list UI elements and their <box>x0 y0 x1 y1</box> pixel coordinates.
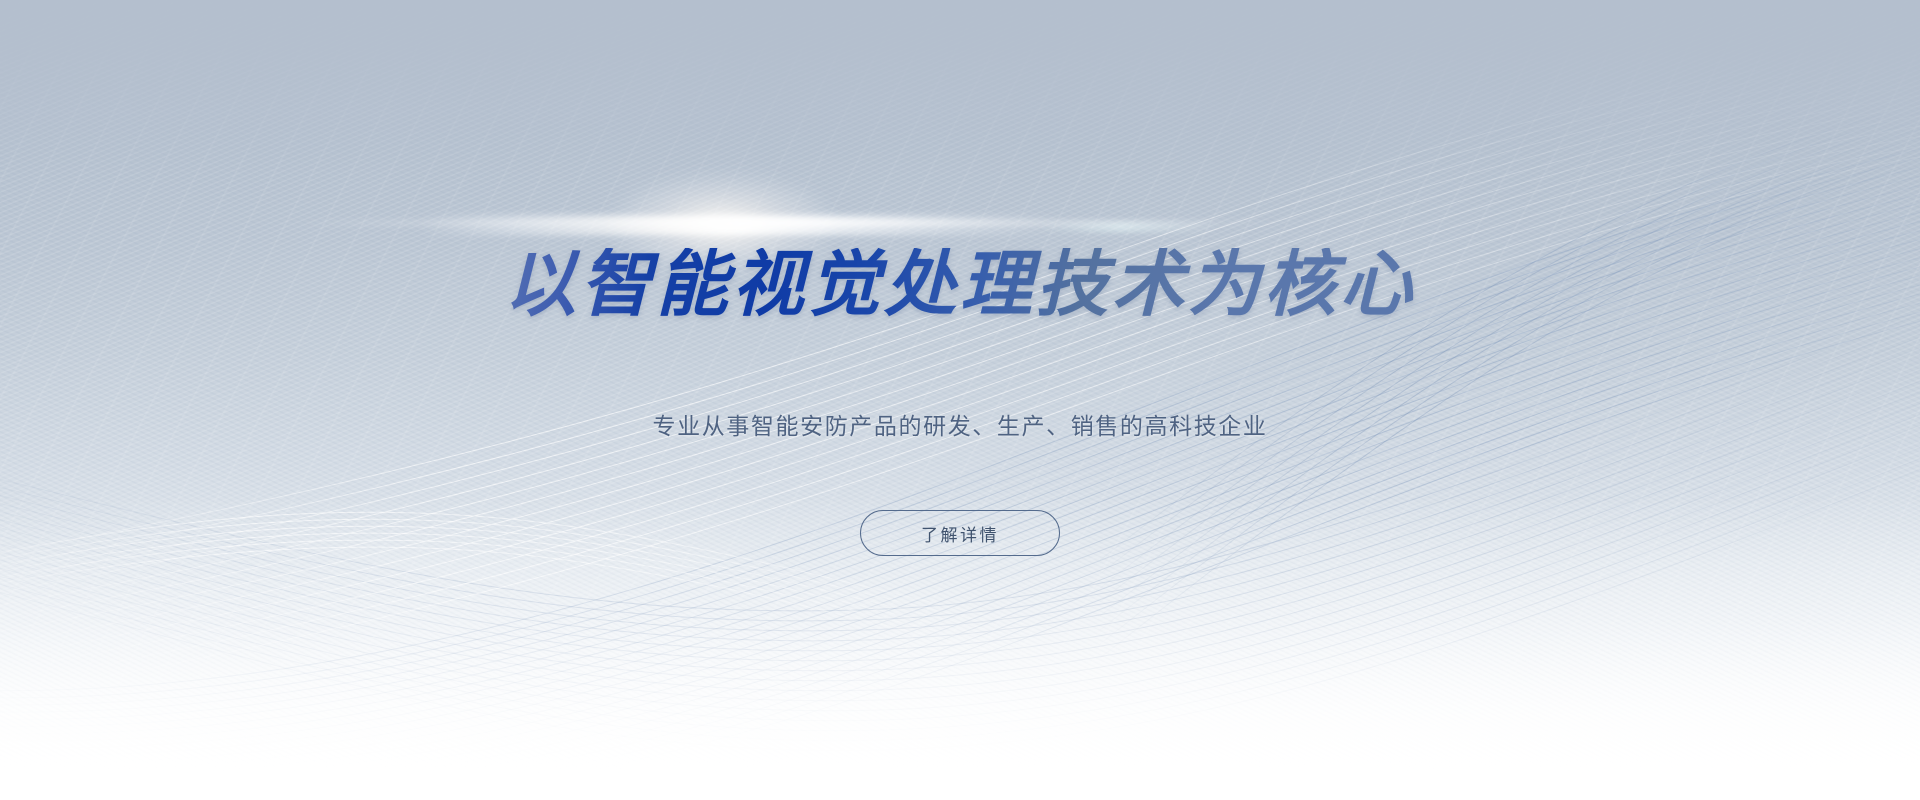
hero-banner: 以智能视觉处理技术为核心 专业从事智能安防产品的研发、生产、销售的高科技企业 了… <box>0 0 1920 800</box>
learn-more-button-label: 了解详情 <box>921 521 999 546</box>
learn-more-button[interactable]: 了解详情 <box>860 510 1060 556</box>
hero-content: 以智能视觉处理技术为核心 专业从事智能安防产品的研发、生产、销售的高科技企业 了… <box>0 0 1920 800</box>
hero-subtitle: 专业从事智能安防产品的研发、生产、销售的高科技企业 <box>653 407 1268 441</box>
page-title: 以智能视觉处理技术为核心 <box>504 248 1416 320</box>
